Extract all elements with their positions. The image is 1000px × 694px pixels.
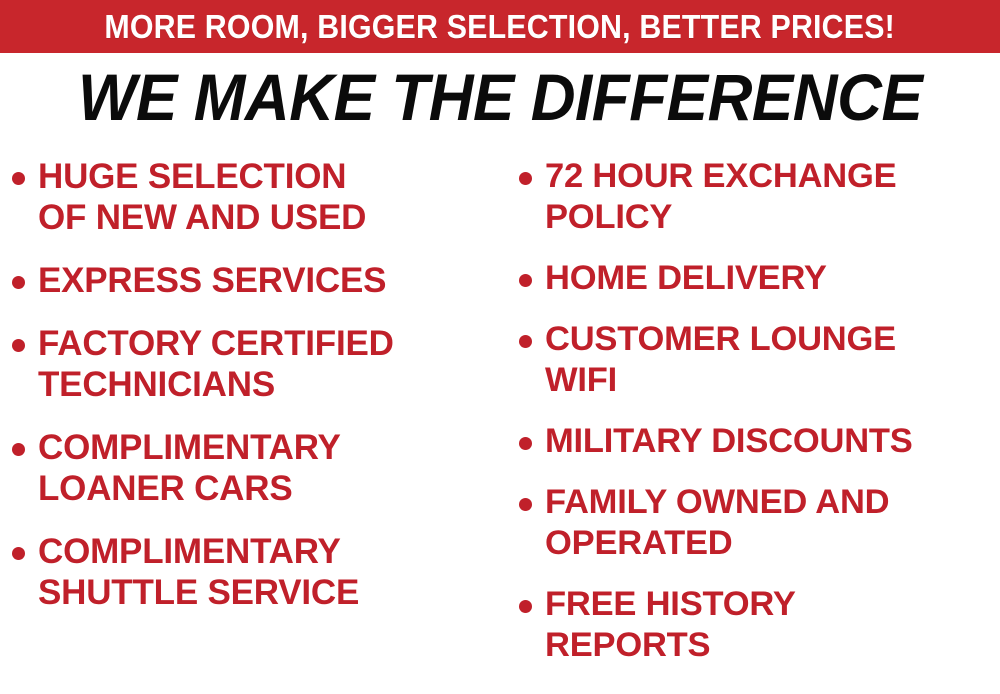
- list-item: FREE HISTORY REPORTS: [519, 584, 1000, 666]
- list-item: FACTORY CERTIFIED TECHNICIANS: [12, 323, 505, 405]
- list-item-label: EXPRESS SERVICES: [38, 260, 386, 301]
- list-item-label: COMPLIMENTARY LOANER CARS: [38, 427, 341, 509]
- promo-banner-text: MORE ROOM, BIGGER SELECTION, BETTER PRIC…: [105, 10, 896, 43]
- list-item: HOME DELIVERY: [519, 258, 1000, 299]
- list-item: FAMILY OWNED AND OPERATED: [519, 482, 1000, 564]
- features-columns: HUGE SELECTION OF NEW AND USED EXPRESS S…: [0, 156, 1000, 694]
- list-item-label: HOME DELIVERY: [545, 258, 827, 299]
- features-column-left: HUGE SELECTION OF NEW AND USED EXPRESS S…: [0, 156, 505, 635]
- list-item: 72 HOUR EXCHANGE POLICY: [519, 156, 1000, 238]
- bullet-dot-icon: [12, 547, 25, 560]
- bullet-dot-icon: [519, 600, 532, 613]
- bullet-dot-icon: [12, 443, 25, 456]
- features-column-right: 72 HOUR EXCHANGE POLICY HOME DELIVERY CU…: [505, 156, 1000, 686]
- list-item: COMPLIMENTARY SHUTTLE SERVICE: [12, 531, 505, 613]
- bullet-dot-icon: [12, 339, 25, 352]
- list-item-label: FAMILY OWNED AND OPERATED: [545, 482, 889, 564]
- list-item-label: CUSTOMER LOUNGE WIFI: [545, 319, 896, 401]
- list-item: EXPRESS SERVICES: [12, 260, 505, 301]
- bullet-dot-icon: [519, 172, 532, 185]
- list-item-label: MILITARY DISCOUNTS: [545, 421, 913, 462]
- bullet-dot-icon: [519, 498, 532, 511]
- list-item: CUSTOMER LOUNGE WIFI: [519, 319, 1000, 401]
- list-item: MILITARY DISCOUNTS: [519, 421, 1000, 462]
- list-item: COMPLIMENTARY LOANER CARS: [12, 427, 505, 509]
- bullet-dot-icon: [519, 274, 532, 287]
- list-item-label: 72 HOUR EXCHANGE POLICY: [545, 156, 896, 238]
- bullet-dot-icon: [519, 437, 532, 450]
- headline: WE MAKE THE DIFFERENCE: [0, 58, 1000, 136]
- list-item-label: FACTORY CERTIFIED TECHNICIANS: [38, 323, 394, 405]
- bullet-dot-icon: [12, 172, 25, 185]
- bullet-dot-icon: [12, 276, 25, 289]
- list-item: HUGE SELECTION OF NEW AND USED: [12, 156, 505, 238]
- list-item-label: COMPLIMENTARY SHUTTLE SERVICE: [38, 531, 359, 613]
- promo-banner: MORE ROOM, BIGGER SELECTION, BETTER PRIC…: [0, 0, 1000, 53]
- headline-text: WE MAKE THE DIFFERENCE: [78, 58, 922, 136]
- list-item-label: FREE HISTORY REPORTS: [545, 584, 796, 666]
- list-item-label: HUGE SELECTION OF NEW AND USED: [38, 156, 366, 238]
- bullet-dot-icon: [519, 335, 532, 348]
